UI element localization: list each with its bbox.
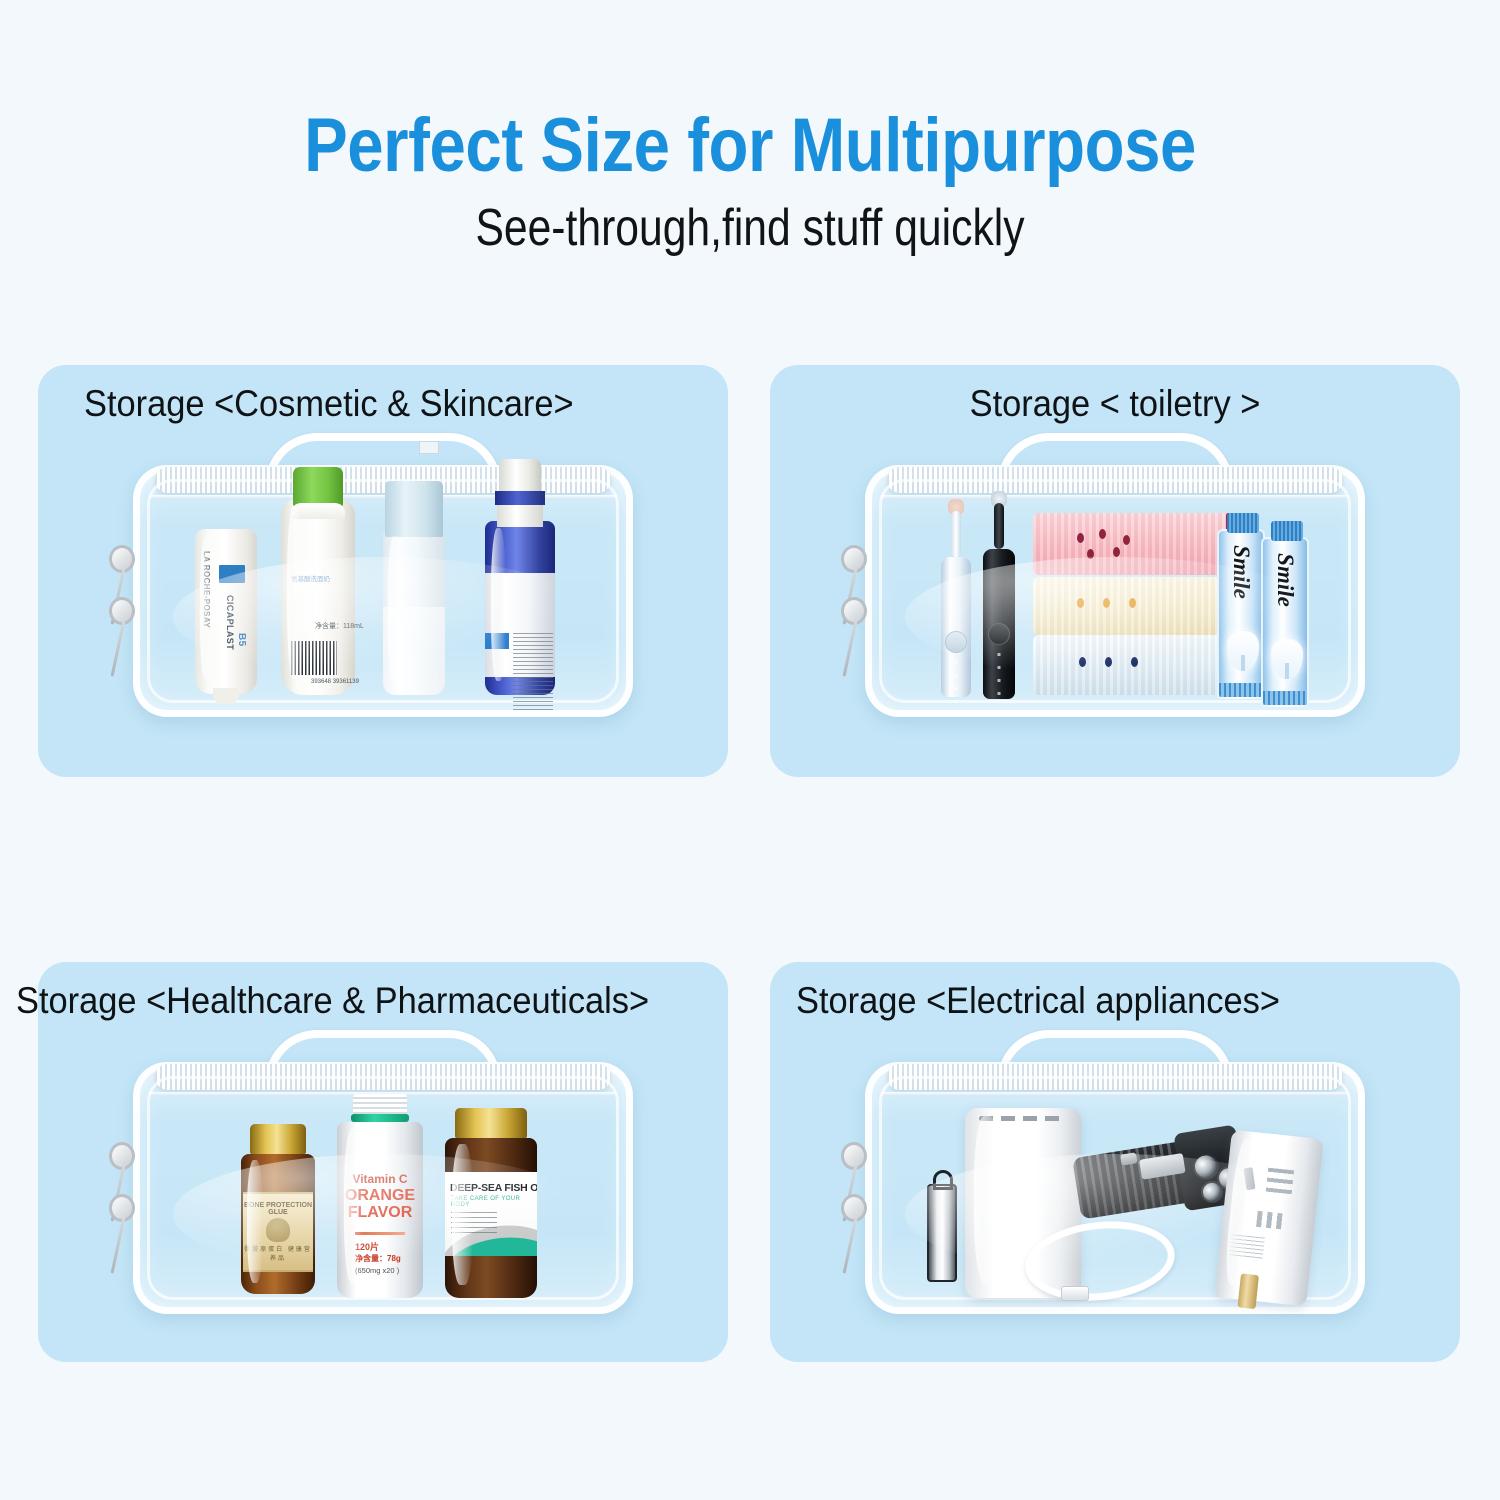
- lotion-shoulder: [291, 503, 345, 519]
- bone-label-subtitle: 骨胶原蛋白 健康营养品: [243, 1244, 313, 1262]
- la-roche-posay-logo-mark: [219, 565, 245, 583]
- vitc-dosage: (650mg x20 ): [355, 1266, 399, 1275]
- item-folded-towel-blue: [1033, 635, 1247, 695]
- serum-pump-head: [499, 459, 541, 493]
- lotion-volume-text: 净含量：118mL: [315, 621, 364, 631]
- tube-neck: [213, 688, 239, 704]
- vitc-flavor: ORANGE FLAVOR: [337, 1188, 423, 1222]
- vitc-net-weight: 净含量：78g: [355, 1253, 401, 1264]
- lotion-code-text: 393648 39361139: [311, 679, 359, 685]
- mist-cap: [385, 481, 443, 537]
- panel-toiletry: Storage < toiletry >: [770, 365, 1460, 777]
- serum-label-text-lines: [513, 633, 553, 713]
- usb-cable-connector: [1061, 1286, 1089, 1301]
- fish-oil-body-text: [451, 1212, 497, 1234]
- fish-oil-title: DEEP-SEA FISH OIL: [450, 1182, 537, 1194]
- tooth-icon: [1227, 631, 1259, 671]
- item-cicaplast-tube: LA ROCHE-POSAY CICAPLAST B5: [195, 529, 257, 694]
- bottle-thread: [353, 1094, 407, 1116]
- serum-label: [485, 573, 555, 677]
- green-seal-ring: [351, 1114, 409, 1122]
- toothpaste-cap: [1227, 513, 1259, 533]
- vitc-divider: [355, 1232, 405, 1235]
- adapter-plug-prongs: [1238, 1273, 1259, 1309]
- serum-neck: [497, 505, 543, 527]
- tube-product-text: CICAPLAST: [225, 595, 235, 650]
- adapter-slots: [1266, 1168, 1294, 1195]
- fish-oil-label: DEEP-SEA FISH OIL TAKE CARE OF YOUR BODY: [445, 1172, 537, 1256]
- item-vitamin-c-bottle: Vitamin C ORANGE FLAVOR 120片 净含量：78g (65…: [337, 1122, 423, 1298]
- item-toothpaste-tube-2: Smile: [1261, 537, 1309, 707]
- vitc-count: 120片: [355, 1240, 379, 1253]
- adapter-socket: [1244, 1167, 1256, 1190]
- lotion-cn-text: 氨基酸洗面奶: [291, 573, 330, 583]
- clear-storage-bag-healthcare: BONE PROTECTION GLUE 骨胶原蛋白 健康营养品 Vitamin…: [133, 1034, 633, 1316]
- clear-storage-bag-electrical: [865, 1034, 1365, 1316]
- item-deep-sea-fish-oil-bottle: DEEP-SEA FISH OIL TAKE CARE OF YOUR BODY: [445, 1138, 537, 1298]
- header: Perfect Size for Multipurpose See-throug…: [0, 0, 1500, 254]
- page-title: Perfect Size for Multipurpose: [105, 0, 1395, 184]
- lotion-green-cap: [293, 467, 343, 507]
- item-electric-toothbrush-white: [941, 557, 971, 697]
- item-led-flashlight: [1070, 1120, 1242, 1236]
- botanical-emblem-icon: [266, 1218, 290, 1242]
- mist-liquid-level: [383, 607, 445, 695]
- tube-brand-text: LA ROCHE-POSAY: [202, 551, 211, 628]
- toothpaste-brand-2: Smile: [1272, 553, 1298, 607]
- panel-label-electrical: Storage <Electrical appliances>: [796, 980, 1280, 1022]
- toothpaste-cap: [1271, 521, 1303, 541]
- item-travel-power-adapter: [1214, 1130, 1323, 1307]
- toothpaste-crimp: [1219, 683, 1263, 697]
- item-folded-towel-pink: [1033, 513, 1247, 575]
- page-subtitle: See-through,find stuff quickly: [135, 184, 1365, 254]
- item-frosted-mist-bottle: [383, 529, 445, 695]
- panel-label-healthcare: Storage <Healthcare & Pharmaceuticals>: [16, 980, 649, 1022]
- item-blue-serum-bottle: [485, 521, 555, 695]
- gold-cap: [250, 1124, 306, 1154]
- clear-storage-bag-cosmetic: LA ROCHE-POSAY CICAPLAST B5 氨基酸洗面奶 净含量：1…: [133, 437, 633, 719]
- usb-keyring-loop: [933, 1170, 953, 1190]
- serum-label-accent: [485, 633, 509, 649]
- toothpaste-brand-1: Smile: [1228, 545, 1254, 599]
- bone-label: BONE PROTECTION GLUE 骨胶原蛋白 健康营养品: [243, 1192, 313, 1272]
- lotion-barcode: [291, 641, 337, 675]
- vitc-title: Vitamin C: [337, 1172, 423, 1186]
- panel-label-toiletry: Storage < toiletry >: [794, 383, 1436, 425]
- serum-collar: [495, 491, 545, 505]
- item-bone-protection-glue-bottle: BONE PROTECTION GLUE 骨胶原蛋白 健康营养品: [241, 1154, 315, 1294]
- tube-variant-text: B5: [236, 633, 247, 647]
- toothpaste-crimp: [1263, 691, 1307, 705]
- panel-cosmetic-skincare: Storage <Cosmetic & Skincare> LA ROCHE-P…: [38, 365, 728, 777]
- item-toothpaste-tube-1: Smile: [1217, 529, 1265, 699]
- clear-storage-bag-toiletry: Smile Smile: [865, 437, 1365, 719]
- item-electric-toothbrush-black: [983, 549, 1015, 699]
- panel-electrical-appliances: Storage <Electrical appliances>: [770, 962, 1460, 1362]
- adapter-usb-ports: [1256, 1211, 1286, 1230]
- panel-healthcare-pharmaceuticals: Storage <Healthcare & Pharmaceuticals> B…: [38, 962, 728, 1362]
- item-usb-flash-drive: [927, 1184, 957, 1282]
- adapter-spec-text: [1229, 1234, 1265, 1259]
- mist-cap-sticker: [419, 441, 439, 454]
- item-lotion-bottle: 氨基酸洗面奶 净含量：118mL 393648 39361139: [281, 499, 355, 695]
- gold-cap: [455, 1108, 527, 1138]
- tooth-icon: [1271, 639, 1303, 679]
- panel-label-cosmetic: Storage <Cosmetic & Skincare>: [84, 383, 574, 425]
- bone-label-title: BONE PROTECTION GLUE: [243, 1202, 313, 1216]
- item-folded-towel-cream: [1033, 577, 1247, 635]
- fish-oil-tagline: TAKE CARE OF YOUR BODY: [451, 1196, 537, 1208]
- power-bank-ports: [979, 1116, 1065, 1121]
